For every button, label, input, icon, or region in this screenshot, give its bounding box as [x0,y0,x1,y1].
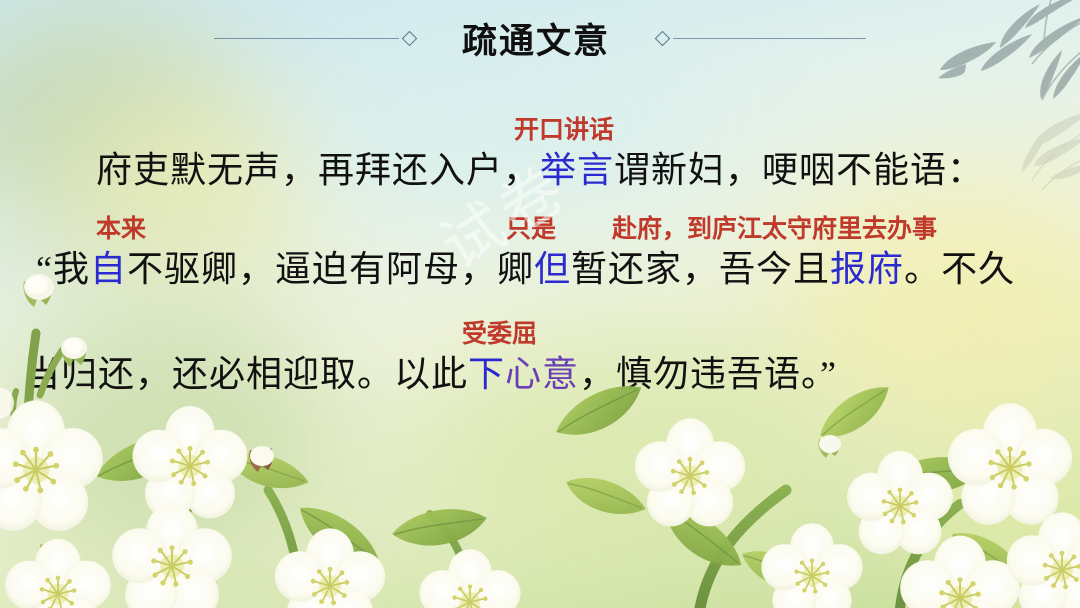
spacer [0,292,1080,314]
background-blob [900,420,1080,608]
verse-segment-highlight: 举言 [540,150,614,190]
verse-segment: “我 [36,249,90,289]
stanza-3: 受委屈 当归还，还必相迎取。以此下心意，慎勿违吾语。” [0,314,1080,397]
verse-segment-highlight: 下 [468,354,505,394]
diamond-icon [402,30,418,46]
verse-segment: 当归还，还必相迎取。以此 [24,354,468,394]
verse-segment: 不驱卿，逼迫有阿母，卿 [127,249,534,289]
verse-segment: 谓新妇，哽咽不能语： [614,150,984,190]
header-rule-left [214,38,399,39]
diamond-icon [655,30,671,46]
gloss-annotation: 赴府，到庐江太守府里去办事 [612,209,937,245]
verse-segment-highlight: 心意 [505,354,579,394]
gloss-annotation: 开口讲话 [514,110,614,146]
gloss-row: 本来 只是 赴府，到庐江太守府里去办事 [0,209,1080,247]
verse-segment: ，慎勿违吾语。” [579,354,837,394]
header-rule-right [673,38,866,39]
verse-body: 开口讲话 府吏默无声，再拜还入户，举言谓新妇，哽咽不能语： 本来 只是 赴府，到… [0,110,1080,397]
spacer [0,193,1080,209]
verse-line: 当归还，还必相迎取。以此下心意，慎勿违吾语。” [0,352,1080,397]
gloss-annotation: 本来 [96,209,146,245]
gloss-row: 受委屈 [0,314,1080,352]
slide-canvas: 疏通文意 开口讲话 府吏默无声，再拜还入户，举言谓新妇，哽咽不能语： 本来 只是… [0,0,1080,608]
verse-segment-highlight: 报府 [830,249,904,289]
gloss-row: 开口讲话 [0,110,1080,148]
gloss-annotation: 只是 [506,209,556,245]
verse-segment: 府吏默无声，再拜还入户， [96,150,540,190]
verse-line: “我自不驱卿，逼迫有阿母，卿但暂还家，吾今且报府。不久 [0,247,1080,292]
verse-segment: 。不久 [904,249,1015,289]
verse-segment-highlight: 自 [90,249,127,289]
page-title: 疏通文意 [420,13,652,64]
verse-line: 府吏默无声，再拜还入户，举言谓新妇，哽咽不能语： [0,148,1080,193]
verse-segment: 暂还家，吾今且 [571,249,830,289]
verse-segment-highlight: 但 [534,249,571,289]
stanza-2: 本来 只是 赴府，到庐江太守府里去办事 “我自不驱卿，逼迫有阿母，卿但暂还家，吾… [0,209,1080,292]
gloss-annotation: 受委屈 [462,314,537,350]
slide-header: 疏通文意 [0,14,1080,62]
stanza-1: 开口讲话 府吏默无声，再拜还入户，举言谓新妇，哽咽不能语： [0,110,1080,193]
